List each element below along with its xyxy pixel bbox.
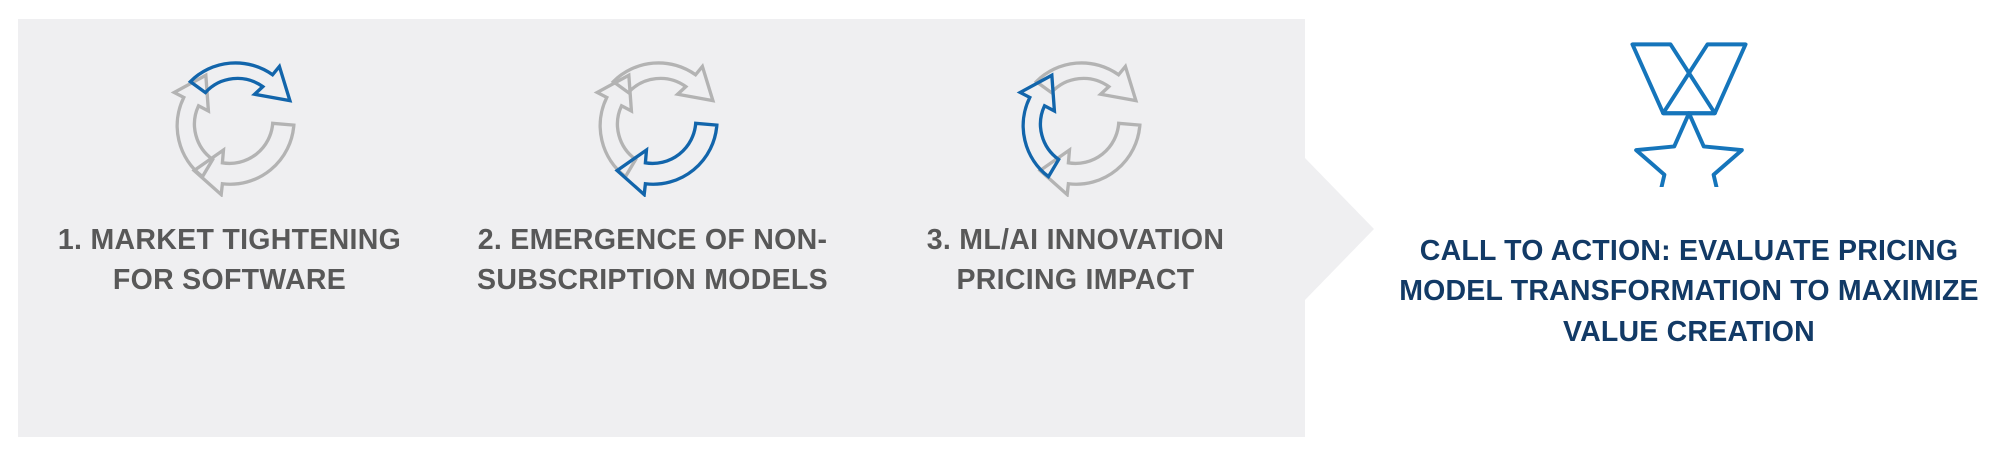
infographic-root: 1. MARKET TIGHTENING FOR SOFTWARE 2. EME… [0,0,2000,458]
medal-award-icon [1625,37,1753,187]
circular-arrows-icon [1000,45,1152,197]
step-item-2[interactable]: 2. EMERGENCE OF NON-SUBSCRIPTION MODELS [441,19,864,301]
circular-arrows-icon [577,45,729,197]
steps-container: 1. MARKET TIGHTENING FOR SOFTWARE 2. EME… [18,19,1287,437]
step-label-3: 3. ML/AI INNOVATION PRICING IMPACT [864,221,1287,301]
step-item-3[interactable]: 3. ML/AI INNOVATION PRICING IMPACT [864,19,1287,301]
call-to-action-block[interactable]: CALL TO ACTION: EVALUATE PRICING MODEL T… [1396,19,1982,437]
call-to-action-text: CALL TO ACTION: EVALUATE PRICING MODEL T… [1396,231,1982,352]
step-label-1: 1. MARKET TIGHTENING FOR SOFTWARE [18,221,441,301]
circular-arrows-icon [154,45,306,197]
step-label-2: 2. EMERGENCE OF NON-SUBSCRIPTION MODELS [441,221,864,301]
step-item-1[interactable]: 1. MARKET TIGHTENING FOR SOFTWARE [18,19,441,301]
